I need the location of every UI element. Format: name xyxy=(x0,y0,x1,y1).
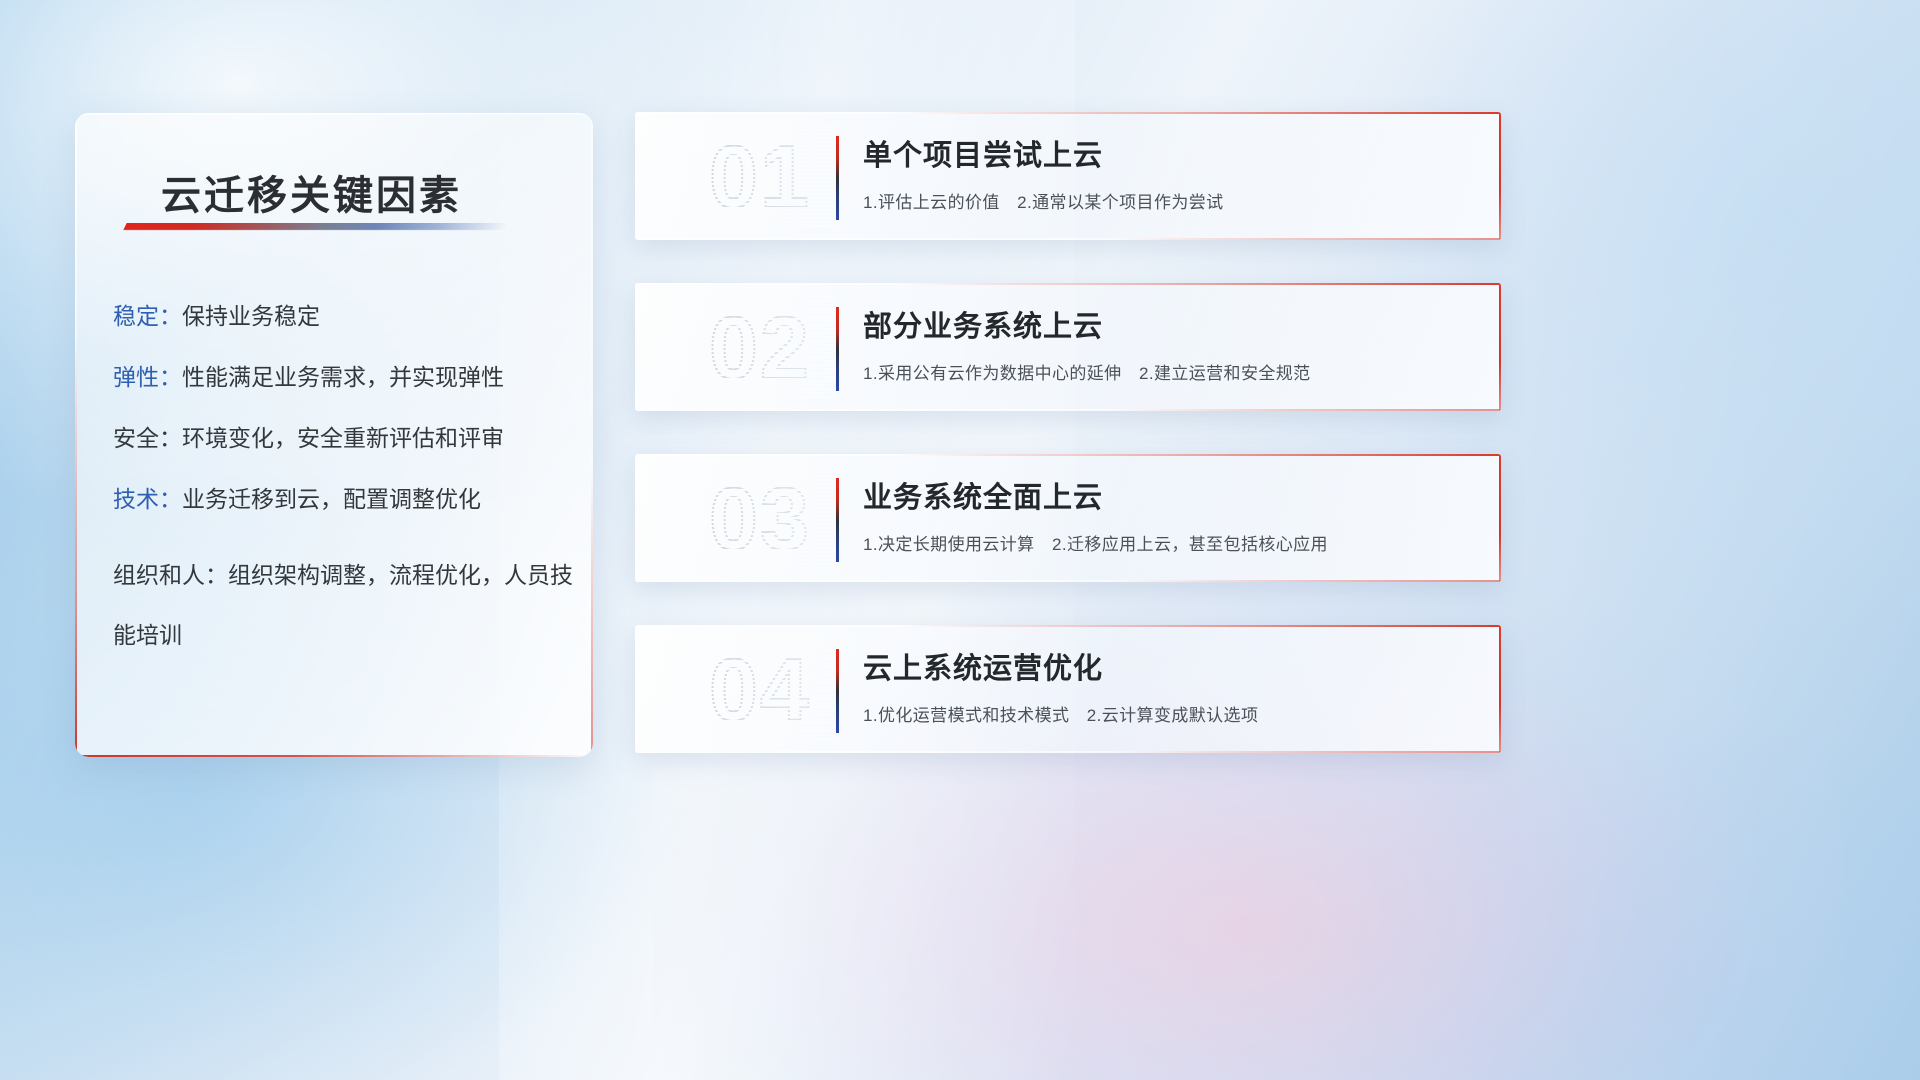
key-factors-list: 稳定：保持业务稳定 弹性：性能满足业务需求，并实现弹性 安全：环境变化，安全重新… xyxy=(113,301,583,695)
stage-card[interactable]: 03 业务系统全面上云 1.决定长期使用云计算 2.迁移应用上云，甚至包括核心应… xyxy=(635,454,1501,582)
card-edge-right xyxy=(1499,112,1501,240)
list-item-text: 性能满足业务需求，并实现弹性 xyxy=(182,364,504,390)
list-item-text: 保持业务稳定 xyxy=(182,303,320,329)
stage-card[interactable]: 02 部分业务系统上云 1.采用公有云作为数据中心的延伸 2.建立运营和安全规范 xyxy=(635,283,1501,411)
panel-edge-bottom xyxy=(75,755,593,757)
card-body: 单个项目尝试上云 1.评估上云的价值 2.通常以某个项目作为尝试 xyxy=(863,132,1461,213)
card-description: 1.优化运营模式和技术模式 2.云计算变成默认选项 xyxy=(863,701,1461,726)
card-title: 部分业务系统上云 xyxy=(863,303,1461,345)
card-number: 02 xyxy=(685,296,835,400)
card-edge-left xyxy=(635,283,637,411)
panel-edge-left xyxy=(75,113,77,757)
card-edge-right xyxy=(1499,625,1501,753)
card-number: 01 xyxy=(685,125,835,229)
card-number: 04 xyxy=(685,638,835,742)
card-edge-top xyxy=(635,625,1501,627)
panel-edge-right xyxy=(591,113,593,757)
card-divider-bar xyxy=(836,307,839,391)
panel-edge-top xyxy=(75,113,593,115)
stage-card[interactable]: 01 单个项目尝试上云 1.评估上云的价值 2.通常以某个项目作为尝试 xyxy=(635,112,1501,240)
card-edge-bottom xyxy=(635,751,1501,753)
stage-card[interactable]: 04 云上系统运营优化 1.优化运营模式和技术模式 2.云计算变成默认选项 xyxy=(635,625,1501,753)
card-edge-bottom xyxy=(635,238,1501,240)
list-item-text: 业务迁移到云，配置调整优化 xyxy=(182,486,481,512)
list-item-label: 安全： xyxy=(113,425,182,451)
list-item-label: 技术： xyxy=(113,486,182,512)
key-factors-panel: 云迁移关键因素 稳定：保持业务稳定 弹性：性能满足业务需求，并实现弹性 安全：环… xyxy=(75,113,593,757)
list-item: 组织和人：组织架构调整，流程优化，人员技能培训 xyxy=(113,545,583,665)
list-item-label: 弹性： xyxy=(113,364,182,390)
list-item: 弹性：性能满足业务需求，并实现弹性 xyxy=(113,362,583,393)
list-item-text: 环境变化，安全重新评估和评审 xyxy=(182,425,504,451)
card-edge-top xyxy=(635,454,1501,456)
title-underline-gradient xyxy=(123,223,508,230)
card-edge-right xyxy=(1499,454,1501,582)
card-divider-bar xyxy=(836,478,839,562)
card-body: 部分业务系统上云 1.采用公有云作为数据中心的延伸 2.建立运营和安全规范 xyxy=(863,303,1461,384)
card-edge-bottom xyxy=(635,409,1501,411)
card-title: 单个项目尝试上云 xyxy=(863,132,1461,174)
card-description: 1.决定长期使用云计算 2.迁移应用上云，甚至包括核心应用 xyxy=(863,530,1461,555)
panel-title: 云迁移关键因素 xyxy=(161,163,581,221)
list-item-label: 稳定： xyxy=(113,303,182,329)
card-body: 云上系统运营优化 1.优化运营模式和技术模式 2.云计算变成默认选项 xyxy=(863,645,1461,726)
card-edge-left xyxy=(635,112,637,240)
card-title: 云上系统运营优化 xyxy=(863,645,1461,687)
card-body: 业务系统全面上云 1.决定长期使用云计算 2.迁移应用上云，甚至包括核心应用 xyxy=(863,474,1461,555)
card-divider-bar xyxy=(836,136,839,220)
card-edge-left xyxy=(635,625,637,753)
list-item: 安全：环境变化，安全重新评估和评审 xyxy=(113,423,583,454)
card-description: 1.评估上云的价值 2.通常以某个项目作为尝试 xyxy=(863,188,1461,213)
list-item: 稳定：保持业务稳定 xyxy=(113,301,583,332)
card-description: 1.采用公有云作为数据中心的延伸 2.建立运营和安全规范 xyxy=(863,359,1461,384)
card-edge-left xyxy=(635,454,637,582)
card-edge-right xyxy=(1499,283,1501,411)
list-item-label: 组织和人： xyxy=(113,562,228,588)
card-edge-top xyxy=(635,283,1501,285)
card-divider-bar xyxy=(836,649,839,733)
list-item: 技术：业务迁移到云，配置调整优化 xyxy=(113,484,583,515)
card-title: 业务系统全面上云 xyxy=(863,474,1461,516)
card-edge-top xyxy=(635,112,1501,114)
card-number: 03 xyxy=(685,467,835,571)
stage-cards: 01 单个项目尝试上云 1.评估上云的价值 2.通常以某个项目作为尝试 02 部… xyxy=(635,112,1501,796)
card-edge-bottom xyxy=(635,580,1501,582)
